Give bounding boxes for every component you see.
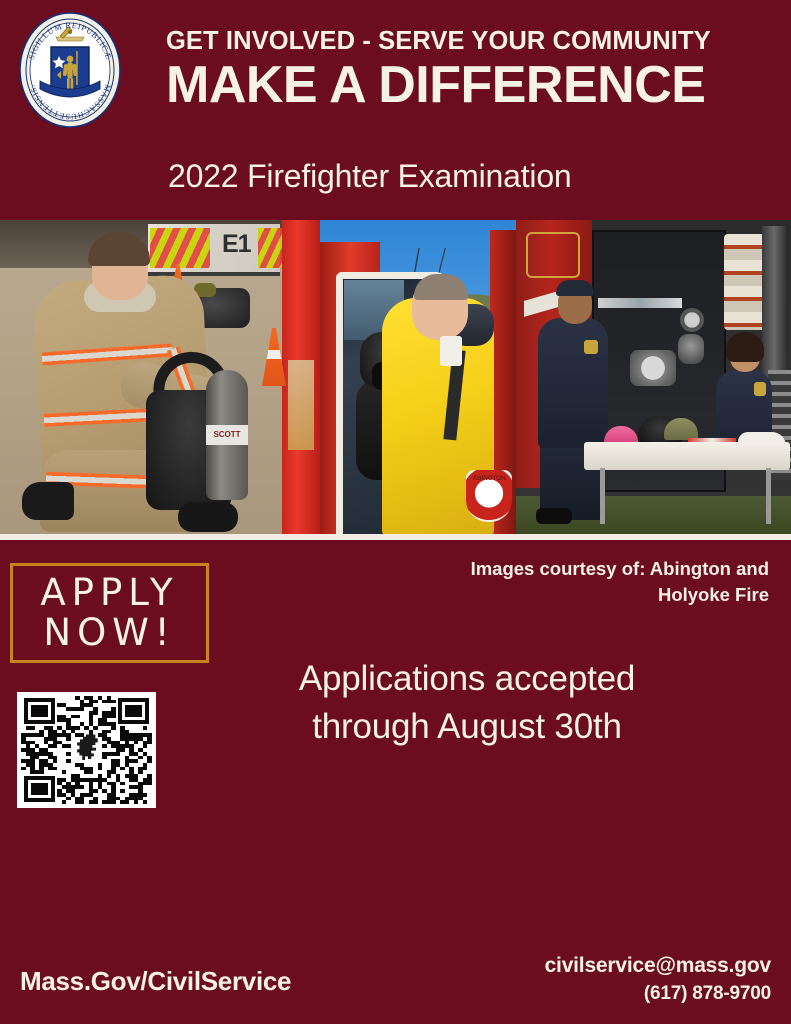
photo-band-bottom-edge	[0, 534, 791, 540]
qr-code[interactable]	[17, 692, 156, 808]
footer-email[interactable]: civilservice@mass.gov	[431, 952, 771, 980]
applications-accepted-text: Applications accepted through August 30t…	[232, 655, 702, 750]
qr-finder-bottom-left	[24, 776, 55, 802]
qr-code-canvas	[21, 696, 152, 804]
abington-fire-patch-icon: ABINGTON	[466, 470, 512, 522]
image-credit-line-1: Images courtesy of: Abington and	[349, 556, 769, 582]
massachusetts-state-seal-icon: SIGILLUM REIPUBLICÆ MASSACHUSETTENSIS.	[18, 11, 122, 129]
image-credit: Images courtesy of: Abington and Holyoke…	[349, 556, 769, 607]
headline-text: MAKE A DIFFERENCE	[166, 59, 766, 112]
engine-number-label: E1	[222, 230, 251, 259]
poster-header: SIGILLUM REIPUBLICÆ MASSACHUSETTENSIS.	[0, 0, 791, 220]
image-credit-line-2: Holyoke Fire	[349, 582, 769, 608]
photo-yellow-suit-dog: ABINGTON	[320, 220, 516, 538]
photo-band: E1 SCOTT	[0, 220, 791, 538]
header-text-block: GET INVOLVED - SERVE YOUR COMMUNITY MAKE…	[166, 28, 766, 112]
applications-line-1: Applications accepted	[232, 655, 702, 703]
apply-now-line-1: APPLY	[40, 573, 178, 613]
apply-now-callout[interactable]: APPLY NOW!	[10, 563, 209, 663]
exam-subtitle: 2022 Firefighter Examination	[168, 158, 572, 195]
kicker-text: GET INVOLVED - SERVE YOUR COMMUNITY	[166, 28, 766, 55]
photo-outreach-table	[516, 220, 791, 538]
qr-finder-top-right	[118, 698, 149, 724]
footer-phone[interactable]: (617) 878-9700	[431, 980, 771, 1009]
qr-finder-top-left	[24, 698, 55, 724]
applications-line-2: through August 30th	[232, 703, 702, 751]
footer-contact: civilservice@mass.gov (617) 878-9700	[431, 952, 771, 1009]
footer-website[interactable]: Mass.Gov/CivilService	[20, 966, 291, 997]
apply-now-line-2: NOW!	[43, 613, 175, 653]
photo-firefighter-scba: E1 SCOTT	[0, 220, 320, 538]
firefighter-exam-poster: SIGILLUM REIPUBLICÆ MASSACHUSETTENSIS.	[0, 0, 791, 1024]
dinosaur-icon	[72, 733, 102, 763]
testing-date-banner: Testing begins October 24th	[0, 800, 791, 930]
